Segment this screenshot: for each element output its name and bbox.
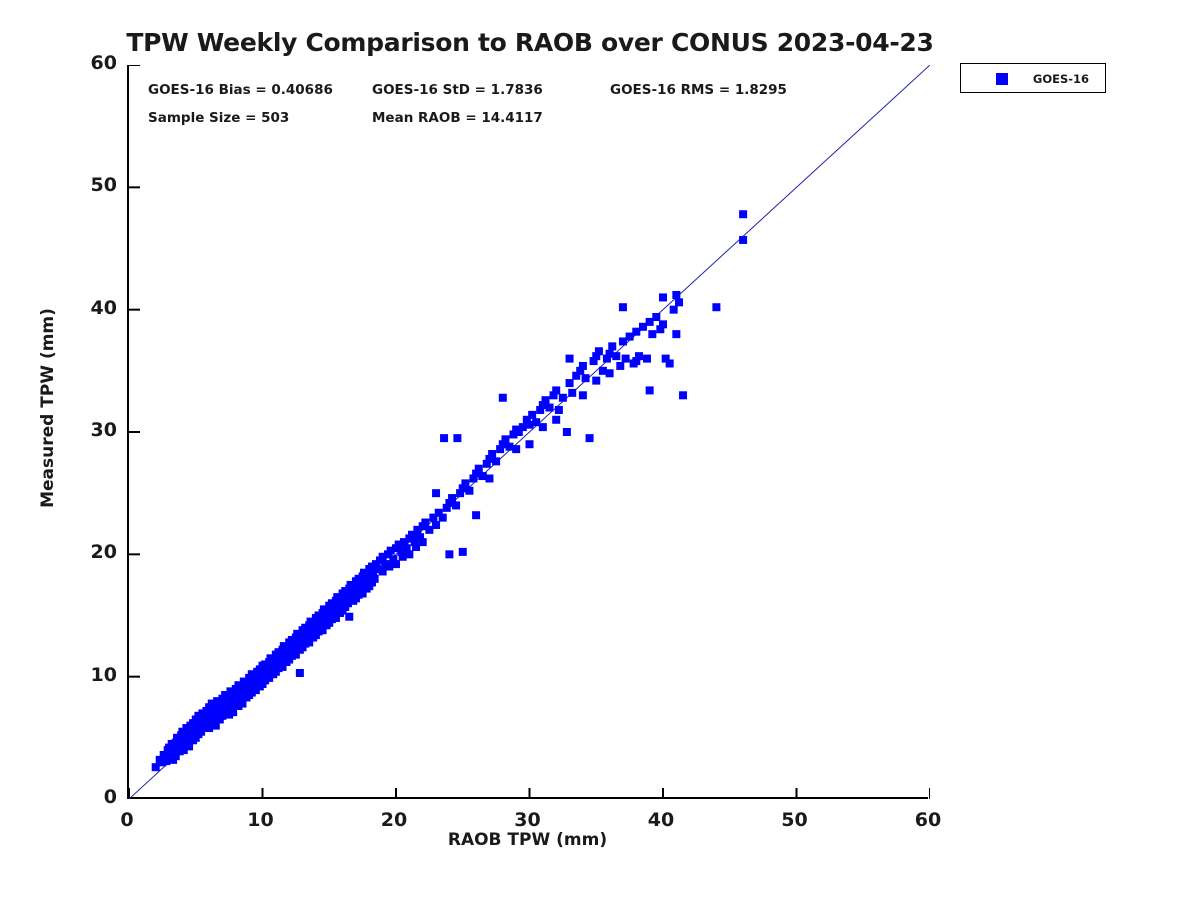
scatter-series-goes-16: [152, 210, 747, 771]
scatter-canvas: [129, 65, 930, 799]
y-tick-label: 30: [71, 419, 117, 441]
x-tick-label: 50: [765, 809, 825, 831]
x-tick-label: 60: [898, 809, 958, 831]
data-point: [643, 355, 651, 363]
data-point: [472, 511, 480, 519]
legend-marker-icon: [996, 73, 1008, 85]
data-point: [485, 474, 493, 482]
data-point: [492, 457, 500, 465]
data-point: [452, 501, 460, 509]
data-point: [445, 550, 453, 558]
data-point: [619, 303, 627, 311]
data-point: [542, 396, 550, 404]
chart-page: TPW Weekly Comparison to RAOB over CONUS…: [0, 0, 1200, 900]
plot-area: [127, 65, 928, 799]
data-point: [675, 298, 683, 306]
data-point: [488, 450, 496, 458]
data-point: [512, 445, 520, 453]
data-point: [566, 379, 574, 387]
data-point: [559, 394, 567, 402]
data-point: [670, 306, 678, 314]
data-point: [526, 440, 534, 448]
x-tick-label: 0: [97, 809, 157, 831]
x-axis-label: RAOB TPW (mm): [127, 830, 928, 850]
data-point: [499, 394, 507, 402]
data-point: [528, 411, 536, 419]
x-tick-label: 20: [364, 809, 424, 831]
data-point: [622, 355, 630, 363]
y-axis-label: Measured TPW (mm): [38, 298, 58, 518]
data-point: [652, 313, 660, 321]
x-tick-label: 30: [498, 809, 558, 831]
data-point: [371, 575, 379, 583]
data-point: [616, 362, 624, 370]
data-point: [579, 362, 587, 370]
y-tick-label: 20: [71, 541, 117, 563]
data-point: [679, 391, 687, 399]
data-point: [440, 434, 448, 442]
data-point: [459, 548, 467, 556]
data-point: [606, 369, 614, 377]
x-tick-label: 10: [231, 809, 291, 831]
data-point: [475, 465, 483, 473]
data-point: [739, 236, 747, 244]
data-point: [582, 374, 590, 382]
data-point: [595, 347, 603, 355]
data-point: [552, 416, 560, 424]
data-point: [432, 489, 440, 497]
y-tick-label: 0: [71, 786, 117, 808]
data-point: [608, 342, 616, 350]
y-tick-label: 40: [71, 297, 117, 319]
legend: GOES-16: [960, 63, 1106, 93]
data-point: [672, 330, 680, 338]
data-point: [539, 423, 547, 431]
data-point: [712, 303, 720, 311]
data-point: [579, 391, 587, 399]
data-point: [739, 210, 747, 218]
data-point: [659, 293, 667, 301]
data-point: [563, 428, 571, 436]
data-point: [392, 560, 400, 568]
data-point: [566, 355, 574, 363]
data-point: [592, 377, 600, 385]
data-point: [501, 435, 509, 443]
data-point: [448, 494, 456, 502]
data-point: [672, 291, 680, 299]
data-point: [405, 550, 413, 558]
data-point: [345, 613, 353, 621]
data-point: [421, 519, 429, 527]
x-tick-label: 40: [631, 809, 691, 831]
data-point: [666, 359, 674, 367]
page-title: TPW Weekly Comparison to RAOB over CONUS…: [0, 28, 1060, 57]
data-point: [439, 514, 447, 522]
data-point: [648, 330, 656, 338]
y-tick-label: 50: [71, 174, 117, 196]
data-point: [586, 434, 594, 442]
data-point: [555, 406, 563, 414]
data-point: [461, 479, 469, 487]
y-tick-label: 60: [71, 52, 117, 74]
data-point: [659, 320, 667, 328]
data-point: [635, 352, 643, 360]
data-point: [546, 404, 554, 412]
data-point: [568, 389, 576, 397]
data-point: [465, 487, 473, 495]
data-point: [296, 669, 304, 677]
data-point: [453, 434, 461, 442]
data-point: [612, 352, 620, 360]
data-point: [646, 386, 654, 394]
y-tick-label: 10: [71, 664, 117, 686]
legend-label: GOES-16: [1021, 72, 1101, 86]
data-point: [419, 538, 427, 546]
data-point: [552, 386, 560, 394]
data-point: [432, 521, 440, 529]
